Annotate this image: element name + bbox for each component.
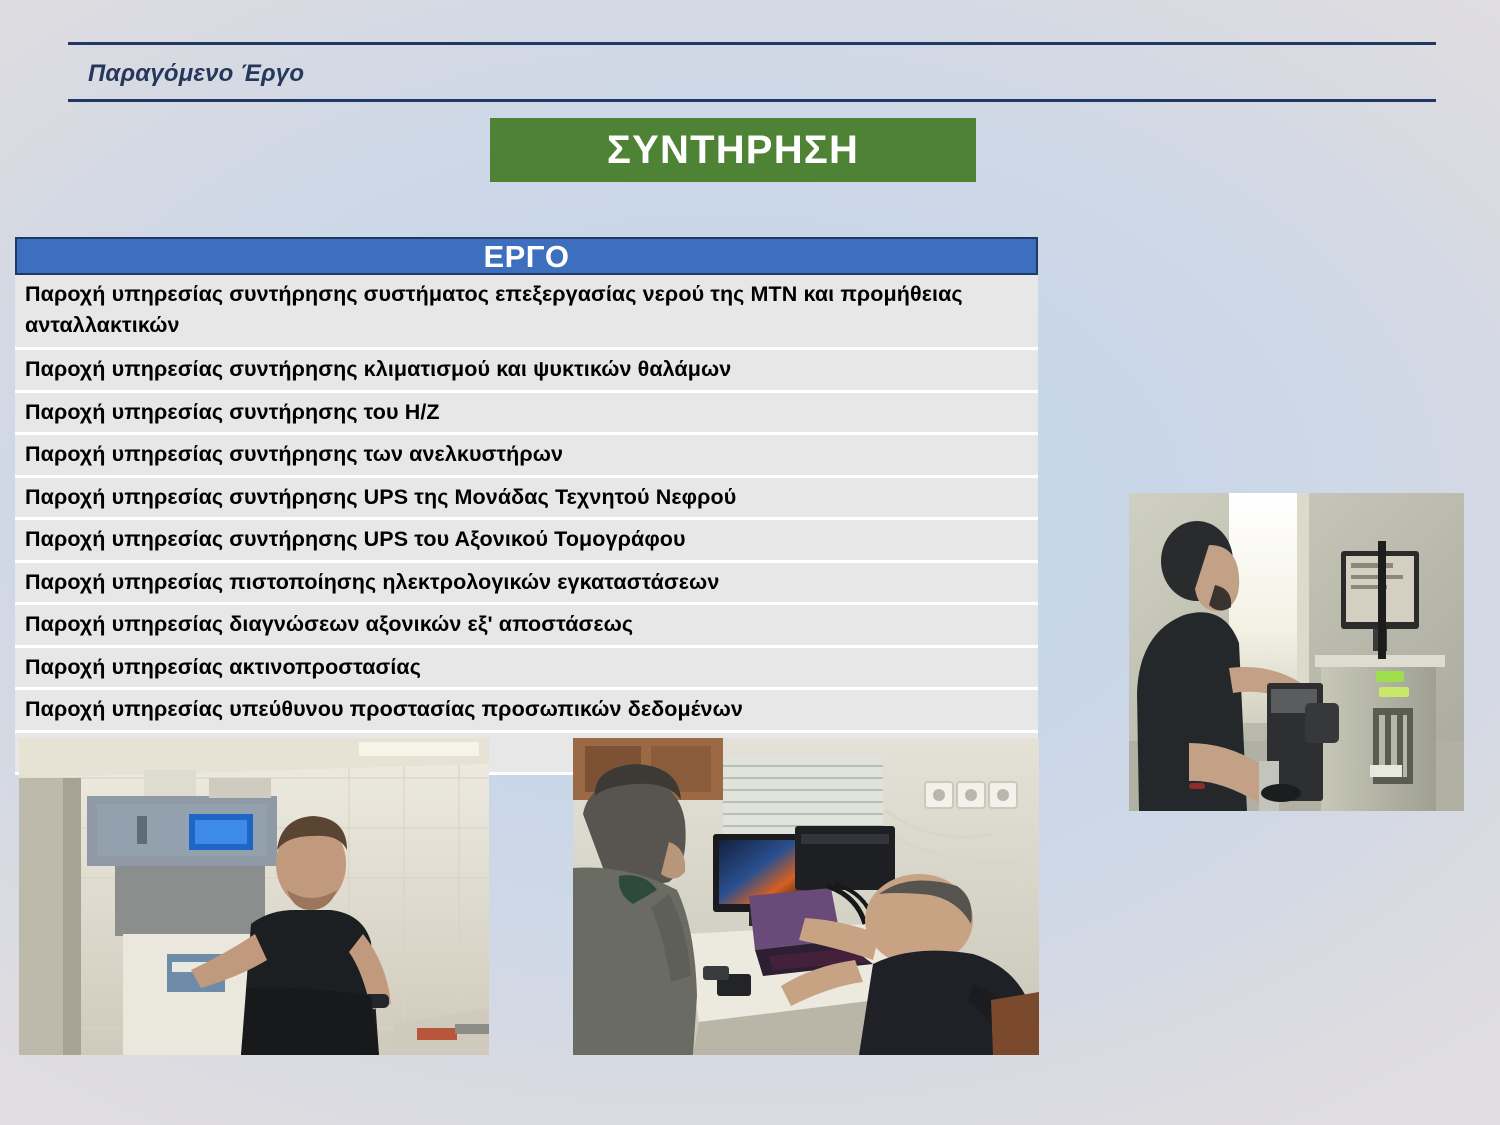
header-rule-top (68, 42, 1436, 45)
table-row: Παροχή υπηρεσίας συντήρησης UPS του Αξον… (15, 520, 1038, 563)
table-row: Παροχή υπηρεσίας διαγνώσεων αξονικών εξ'… (15, 605, 1038, 648)
section-banner: ΣΥΝΤΗΡΗΣΗ (490, 118, 976, 182)
table-row: Παροχή υπηρεσίας συντήρησης του Η/Ζ (15, 393, 1038, 436)
header-rule-bottom (68, 99, 1436, 102)
table-row: Παροχή υπηρεσίας συντήρησης συστήματος ε… (15, 275, 1038, 350)
table-row: Παροχή υπηρεσίας πιστοποίησης ηλεκτρολογ… (15, 563, 1038, 606)
slide-canvas: Παραγόμενο Έργο ΣΥΝΤΗΡΗΣΗ ΕΡΓΟ Παροχή υπ… (0, 0, 1500, 1125)
table-row: Παροχή υπηρεσίας συντήρησης UPS της Μονά… (15, 478, 1038, 521)
table-body: Παροχή υπηρεσίας συντήρησης συστήματος ε… (15, 275, 1038, 775)
photo-ups-cabinet-technician (19, 738, 489, 1055)
works-table: ΕΡΓΟ Παροχή υπηρεσίας συντήρησης συστήμα… (15, 237, 1038, 775)
table-row: Παροχή υπηρεσίας ακτινοπροστασίας (15, 648, 1038, 691)
table-row: Παροχή υπηρεσίας υπεύθυνου προστασίας πρ… (15, 690, 1038, 733)
slide-header: Παραγόμενο Έργο (68, 42, 1436, 104)
section-banner-label: ΣΥΝΤΗΡΗΣΗ (607, 130, 859, 170)
table-column-header-ergo: ΕΡΓΟ (483, 241, 569, 272)
page-title: Παραγόμενο Έργο (88, 60, 304, 88)
table-row: Παροχή υπηρεσίας συντήρησης των ανελκυστ… (15, 435, 1038, 478)
photo-laptop-desk-inspection (573, 738, 1039, 1055)
photo-ct-scanner-technician (1129, 493, 1464, 811)
table-header-row: ΕΡΓΟ (15, 237, 1038, 275)
table-row: Παροχή υπηρεσίας συντήρησης κλιματισμού … (15, 350, 1038, 393)
